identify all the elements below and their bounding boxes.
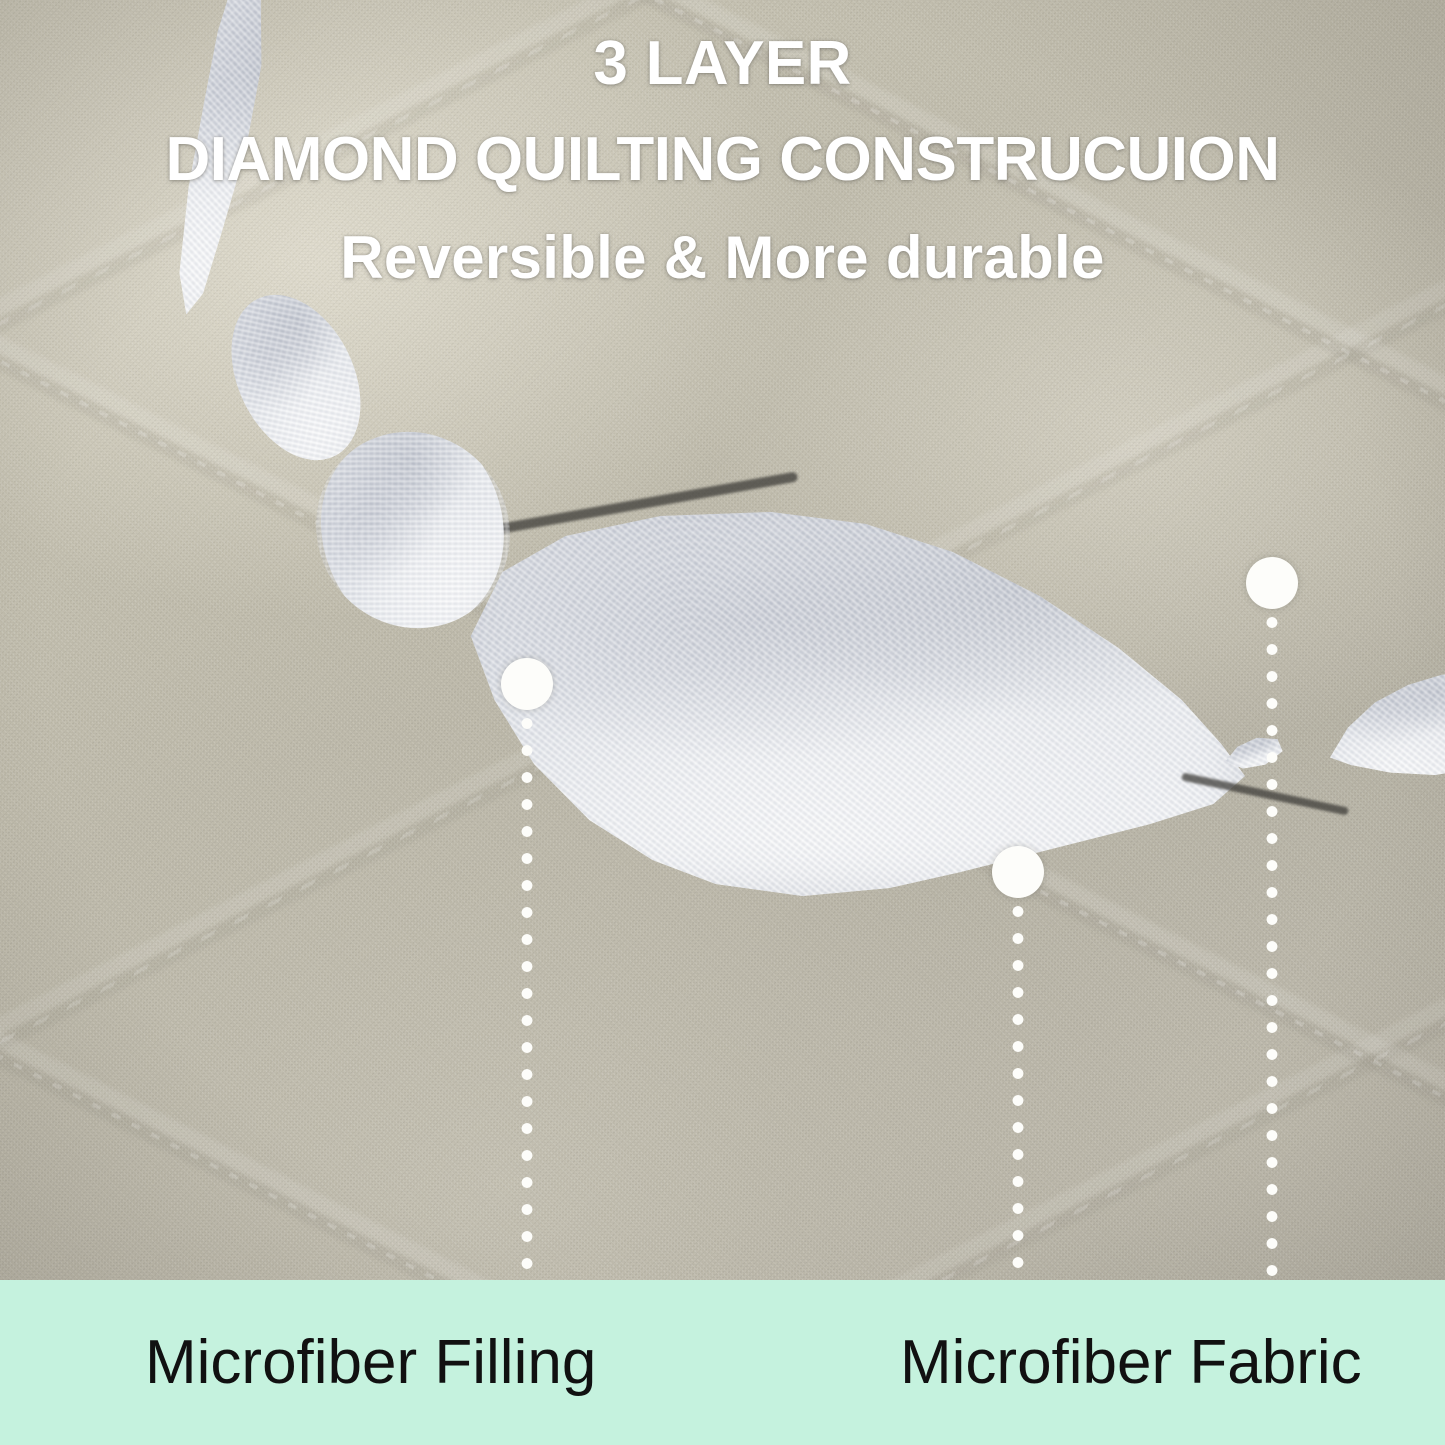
legend-bar: Microfiber Filling Microfiber Fabric <box>0 1280 1445 1445</box>
callout-leader-line <box>1265 609 1279 1280</box>
legend-label-microfiber-fabric: Microfiber Fabric <box>900 1327 1362 1399</box>
headline-line-1: 3 LAYER <box>0 28 1445 100</box>
callout-dot-icon <box>501 658 553 710</box>
headline-line-2: DIAMOND QUILTING CONSTRUCUION <box>0 124 1445 196</box>
callout-leader-line <box>520 710 534 1280</box>
infographic-canvas: 3 LAYER DIAMOND QUILTING CONSTRUCUION Re… <box>0 0 1445 1445</box>
legend-label-microfiber-filling: Microfiber Filling <box>145 1327 596 1399</box>
headline-line-3: Reversible & More durable <box>0 222 1445 294</box>
callout-dot-icon <box>992 846 1044 898</box>
callout-leader-line <box>1011 898 1025 1280</box>
callout-dot-icon <box>1246 557 1298 609</box>
